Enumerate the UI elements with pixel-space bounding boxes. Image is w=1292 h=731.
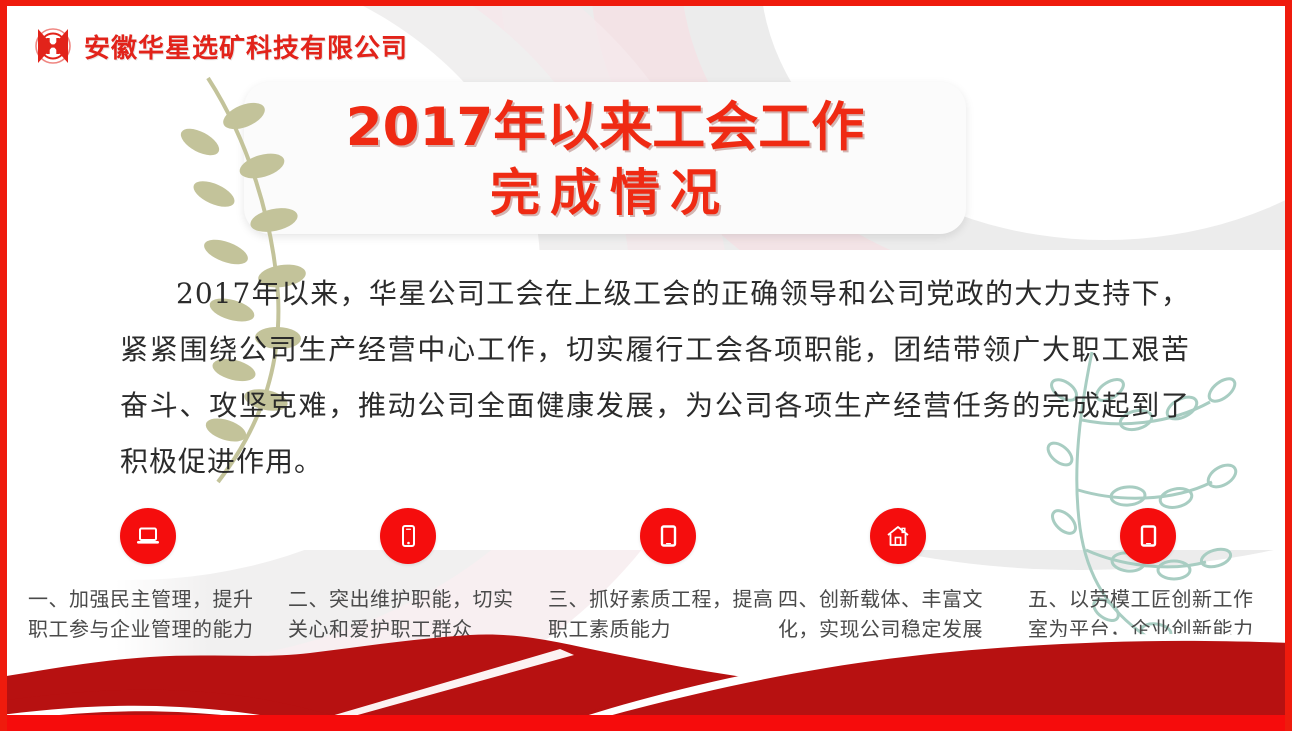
mountain-silhouette — [0, 591, 1292, 731]
mobile-phone-icon — [380, 508, 436, 564]
presentation-slide: 安徽华星选矿科技有限公司 2017年以来工会工作 完成情况 2017年以来，华星… — [0, 0, 1292, 731]
body-paragraph: 2017年以来，华星公司工会在上级工会的正确领导和公司党政的大力支持下，紧紧围绕… — [120, 266, 1190, 490]
laptop-icon — [120, 508, 176, 564]
slide-header: 安徽华星选矿科技有限公司 — [0, 20, 408, 72]
company-name: 安徽华星选矿科技有限公司 — [84, 28, 408, 65]
tablet-icon — [1120, 508, 1176, 564]
tablet-icon — [640, 508, 696, 564]
bottom-red-strip — [0, 715, 1292, 731]
house-icon — [870, 508, 926, 564]
company-emblem-icon — [32, 25, 74, 67]
